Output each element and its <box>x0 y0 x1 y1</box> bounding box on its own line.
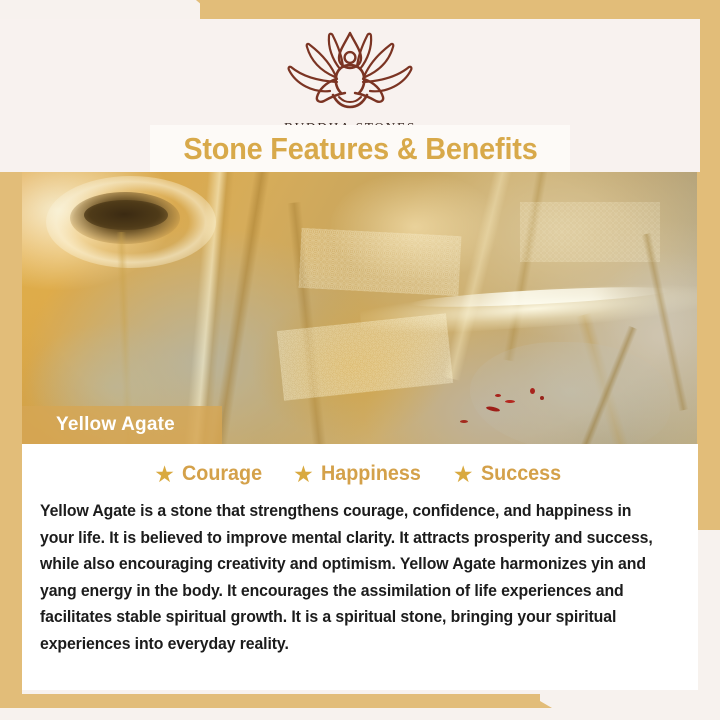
title-band: Stone Features & Benefits <box>150 125 570 172</box>
content-card: ★ Courage ★ Happiness ★ Success Yellow A… <box>22 444 698 690</box>
stone-name-label: Yellow Agate <box>22 406 222 444</box>
stone-name-text: Yellow Agate <box>56 414 175 436</box>
benefit-label: Happiness <box>321 462 421 486</box>
star-icon: ★ <box>293 463 314 486</box>
benefit-label: Success <box>481 462 561 486</box>
stone-description: Yellow Agate is a stone that strengthens… <box>40 498 656 657</box>
gold-top-band-diagonal-tip <box>196 0 218 19</box>
benefit-item: ★ Courage <box>154 462 267 486</box>
brand-logo: BUDDHA STONES <box>0 27 700 136</box>
stone-image <box>0 172 720 444</box>
gold-top-band <box>200 0 720 19</box>
star-icon: ★ <box>453 463 474 486</box>
infographic-page: BUDDHA STONES Stone Features & Benefits <box>0 0 720 720</box>
benefit-item: ★ Happiness <box>293 462 427 486</box>
gold-right-band <box>697 0 720 530</box>
benefits-row: ★ Courage ★ Happiness ★ Success <box>32 462 688 486</box>
gold-bottom-band <box>0 694 540 708</box>
gold-left-band <box>0 172 22 702</box>
benefit-label: Courage <box>182 462 262 486</box>
star-icon: ★ <box>154 463 175 486</box>
gold-right-band-diagonal-tip <box>697 505 720 531</box>
lotus-meditation-icon <box>275 27 425 119</box>
benefit-item: ★ Success <box>453 462 566 486</box>
page-title: Stone Features & Benefits <box>183 131 537 167</box>
gold-bottom-band-diagonal-tip <box>528 694 552 708</box>
